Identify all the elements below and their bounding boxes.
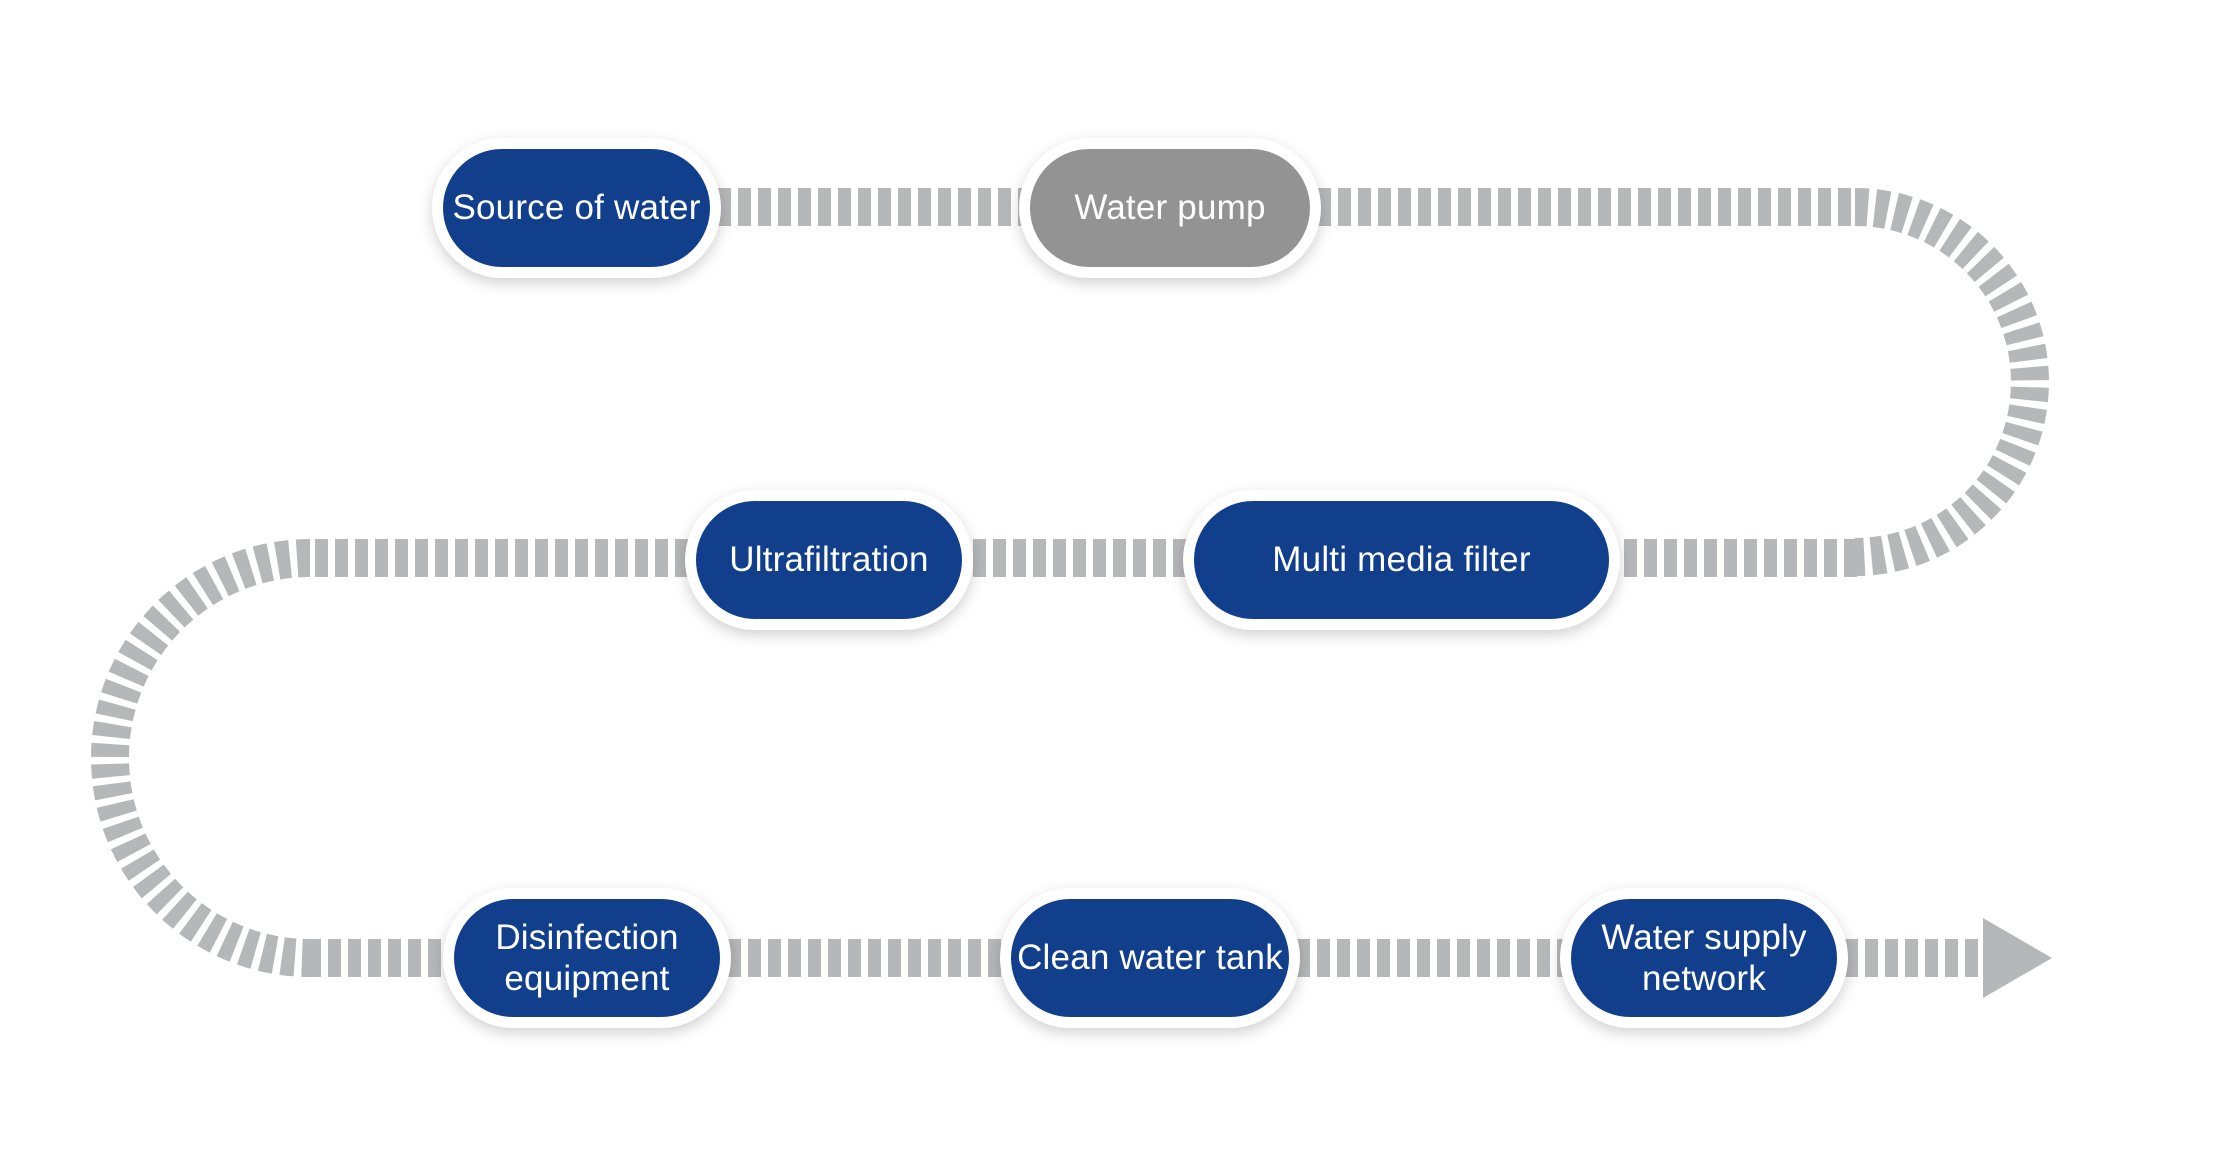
node-clean-water-tank[interactable]: Clean water tank — [1000, 888, 1300, 1028]
node-source-of-water[interactable]: Source of water — [432, 138, 721, 278]
node-water-pump[interactable]: Water pump — [1019, 138, 1321, 278]
node-disinfection-equipment[interactable]: Disinfection equipment — [443, 888, 731, 1028]
node-multi-media-filter[interactable]: Multi media filter — [1183, 490, 1620, 630]
node-ultrafiltration[interactable]: Ultrafiltration — [685, 490, 973, 630]
process-node-layer: Source of water Water pump Multi media f… — [0, 0, 2222, 1164]
diagram-canvas: Source of water Water pump Multi media f… — [0, 0, 2222, 1164]
node-water-supply-network[interactable]: Water supply network — [1560, 888, 1848, 1028]
